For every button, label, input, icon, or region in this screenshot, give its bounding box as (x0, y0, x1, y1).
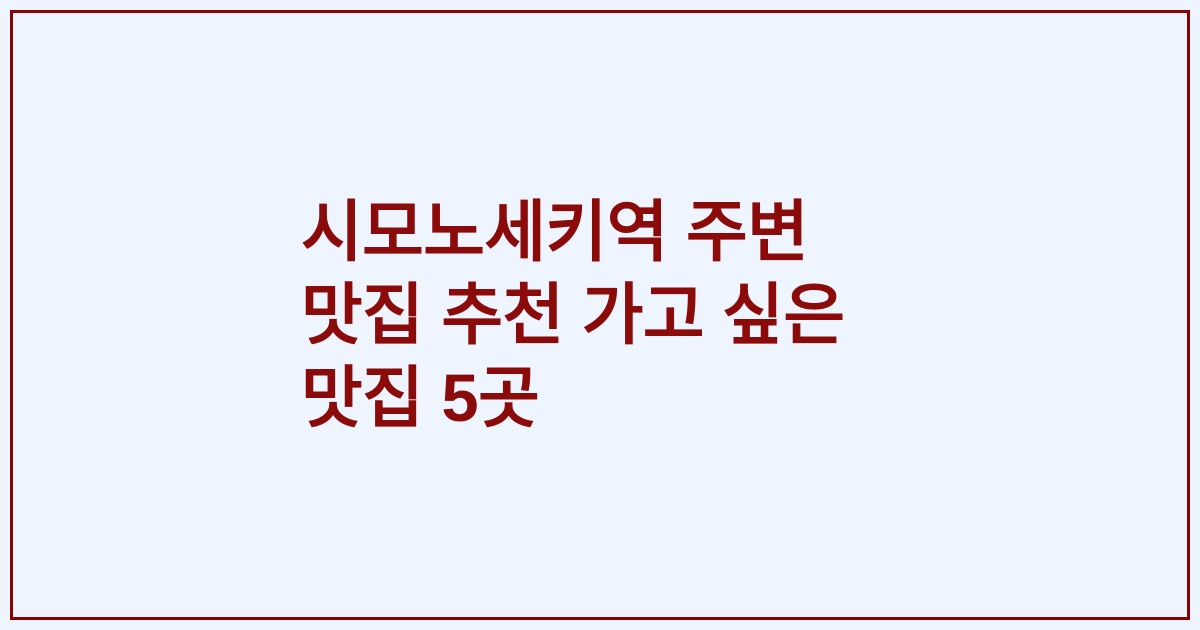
page-title: 시모노세키역 주변 맛집 추천 가고 싶은 맛집 5곳 (301, 191, 901, 440)
title-block: 시모노세키역 주변 맛집 추천 가고 싶은 맛집 5곳 (301, 191, 901, 440)
thumbnail-card: 시모노세키역 주변 맛집 추천 가고 싶은 맛집 5곳 (0, 0, 1200, 630)
